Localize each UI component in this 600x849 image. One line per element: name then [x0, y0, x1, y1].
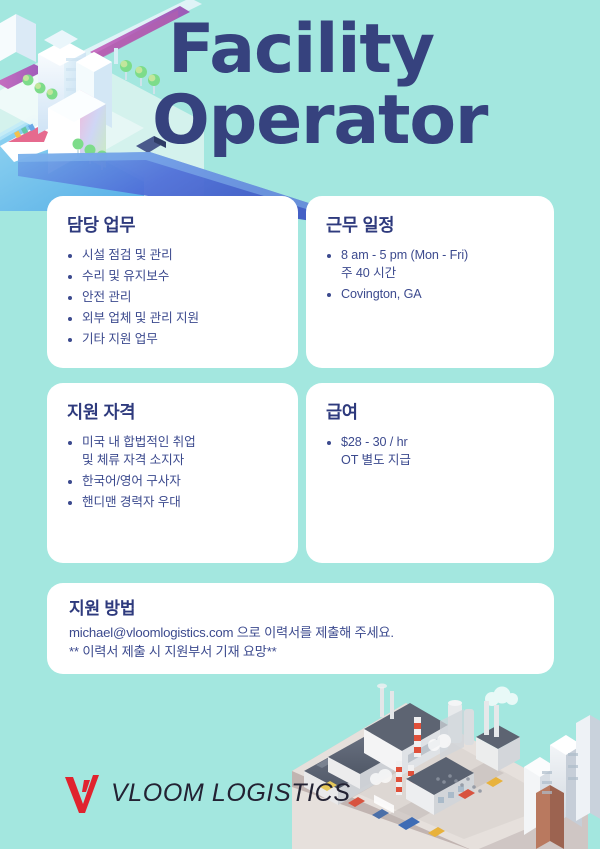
list-item: 8 am - 5 pm (Mon - Fri) 주 40 시간: [326, 247, 536, 283]
company-logo: VLOOM LOGISTICS: [62, 772, 351, 814]
apply-instruction-line-1: michael@vloomlogistics.com 으로 이력서를 제출해 주…: [69, 623, 536, 642]
job-poster: Facility Operator 담당 업무 시설 점검 및 관리 수리 및 …: [0, 0, 600, 849]
qualifications-heading: 지원 자격: [67, 399, 280, 424]
list-item: 수리 및 유지보수: [67, 268, 280, 286]
list-item: 미국 내 합법적인 취업 및 체류 자격 소지자: [67, 434, 280, 470]
list-item-label: 시설 점검 및 관리: [82, 248, 173, 262]
schedule-list: 8 am - 5 pm (Mon - Fri) 주 40 시간 Covingto…: [326, 247, 536, 304]
poster-title: Facility Operator: [152, 18, 588, 153]
list-item-label: Covington, GA: [341, 287, 422, 301]
bullet-icon: [68, 480, 72, 484]
list-item-label: 한국어/영어 구사자: [82, 474, 181, 488]
list-item: 한국어/영어 구사자: [67, 473, 280, 491]
bullet-icon: [68, 275, 72, 279]
isometric-factory-illustration: [288, 675, 600, 849]
list-item: 핸디맨 경력자 우대: [67, 494, 280, 512]
list-item: Covington, GA: [326, 286, 536, 304]
bullet-icon: [68, 254, 72, 258]
list-item-label: 수리 및 유지보수: [82, 269, 169, 283]
salary-heading: 급여: [326, 399, 536, 424]
apply-instruction-line-2: ** 이력서 제출 시 지원부서 기재 요망**: [69, 642, 536, 661]
card-qualifications: 지원 자격 미국 내 합법적인 취업 및 체류 자격 소지자 한국어/영어 구사…: [47, 383, 298, 563]
list-item-label: 안전 관리: [82, 290, 131, 304]
list-item: 기타 지원 업무: [67, 331, 280, 349]
list-item-label: 핸디맨 경력자 우대: [82, 495, 181, 509]
logo-text: VLOOM LOGISTICS: [111, 779, 351, 808]
v-checkmark-logo-icon: [62, 772, 102, 814]
list-item: 외부 업체 및 관리 지원: [67, 310, 280, 328]
card-responsibilities: 담당 업무 시설 점검 및 관리 수리 및 유지보수 안전 관리 외부 업체 및…: [47, 196, 298, 368]
schedule-heading: 근무 일정: [326, 212, 536, 237]
bullet-icon: [327, 254, 331, 258]
responsibilities-list: 시설 점검 및 관리 수리 및 유지보수 안전 관리 외부 업체 및 관리 지원…: [67, 247, 280, 348]
list-item-label: 외부 업체 및 관리 지원: [82, 311, 199, 325]
list-item-sublabel: OT 별도 지급: [341, 452, 536, 470]
list-item-label: 기타 지원 업무: [82, 332, 158, 346]
card-salary: 급여 $28 - 30 / hr OT 별도 지급: [306, 383, 554, 563]
bullet-icon: [68, 501, 72, 505]
apply-heading: 지원 방법: [69, 594, 536, 619]
list-item: 안전 관리: [67, 289, 280, 307]
bullet-icon: [68, 441, 72, 445]
list-item-label: 8 am - 5 pm (Mon - Fri): [341, 248, 468, 262]
bullet-icon: [327, 441, 331, 445]
bullet-icon: [68, 338, 72, 342]
responsibilities-heading: 담당 업무: [67, 212, 280, 237]
bullet-icon: [327, 293, 331, 297]
title-line-2: Operator: [152, 89, 588, 154]
list-item-label: 미국 내 합법적인 취업: [82, 435, 196, 449]
title-line-1: Facility: [152, 18, 588, 83]
list-item-sublabel: 주 40 시간: [341, 265, 536, 283]
list-item-sublabel: 및 체류 자격 소지자: [82, 452, 280, 470]
bullet-icon: [68, 296, 72, 300]
card-schedule: 근무 일정 8 am - 5 pm (Mon - Fri) 주 40 시간 Co…: [306, 196, 554, 368]
salary-list: $28 - 30 / hr OT 별도 지급: [326, 434, 536, 470]
card-apply: 지원 방법 michael@vloomlogistics.com 으로 이력서를…: [47, 583, 554, 674]
list-item: 시설 점검 및 관리: [67, 247, 280, 265]
qualifications-list: 미국 내 합법적인 취업 및 체류 자격 소지자 한국어/영어 구사자 핸디맨 …: [67, 434, 280, 512]
list-item-label: $28 - 30 / hr: [341, 435, 408, 449]
list-item: $28 - 30 / hr OT 별도 지급: [326, 434, 536, 470]
bullet-icon: [68, 317, 72, 321]
